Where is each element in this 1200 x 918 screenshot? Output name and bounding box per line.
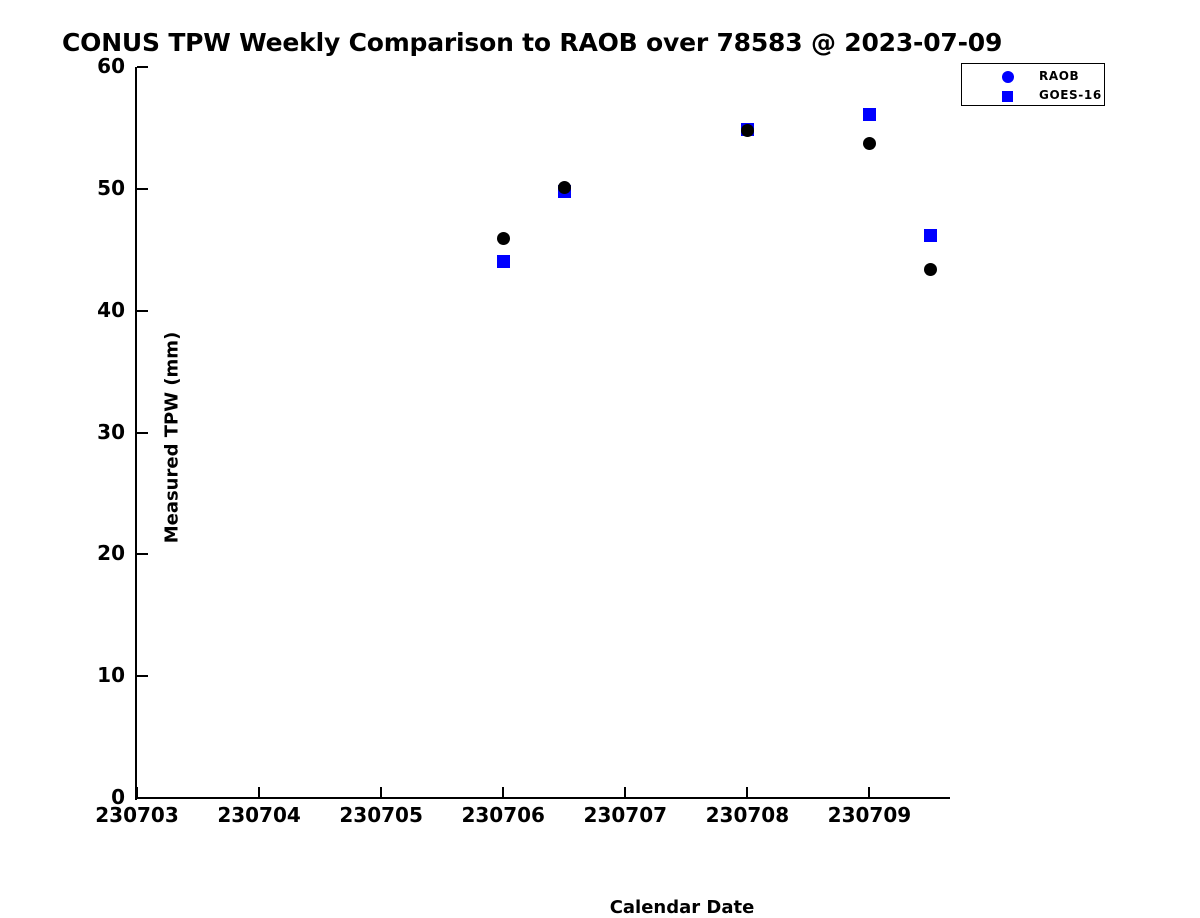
x-tick-label: 230708 — [677, 803, 817, 827]
legend-entry-raob[interactable]: RAOB — [962, 68, 1104, 88]
x-tick-label: 230705 — [311, 803, 451, 827]
chart-title: CONUS TPW Weekly Comparison to RAOB over… — [62, 28, 1002, 57]
y-tick-label: 40 — [65, 298, 125, 322]
x-tick-label: 230709 — [799, 803, 939, 827]
x-tick-label: 230703 — [67, 803, 207, 827]
legend-marker-circle-icon — [1002, 71, 1014, 83]
data-point-raob — [741, 124, 754, 137]
data-point-goes-16 — [863, 108, 876, 121]
y-tick-label: 20 — [65, 541, 125, 565]
legend-label: RAOB — [1039, 69, 1079, 83]
data-point-raob — [924, 263, 937, 276]
figure-canvas: CONUS TPW Weekly Comparison to RAOB over… — [0, 0, 1200, 900]
data-point-raob — [497, 232, 510, 245]
x-tick-label: 230707 — [555, 803, 695, 827]
y-axis-label: Measured TPW (mm) — [162, 268, 183, 608]
y-tick-label: 60 — [65, 54, 125, 78]
x-axis-label: Calendar Date — [137, 897, 1200, 918]
data-point-raob — [863, 137, 876, 150]
data-point-goes-16 — [924, 229, 937, 242]
data-point-goes-16 — [497, 255, 510, 268]
legend-entry-goes-16[interactable]: GOES-16 — [962, 87, 1104, 107]
y-tick-label: 50 — [65, 176, 125, 200]
chart-legend: RAOBGOES-16 — [961, 63, 1105, 106]
y-tick-label: 10 — [65, 663, 125, 687]
plot-area: Measured TPW (mm) Calendar Date — [137, 67, 950, 798]
data-point-raob — [558, 181, 571, 194]
y-tick-label: 30 — [65, 420, 125, 444]
legend-marker-square-icon — [1002, 91, 1013, 102]
legend-label: GOES-16 — [1039, 88, 1102, 102]
x-tick-label: 230706 — [433, 803, 573, 827]
x-tick-label: 230704 — [189, 803, 329, 827]
